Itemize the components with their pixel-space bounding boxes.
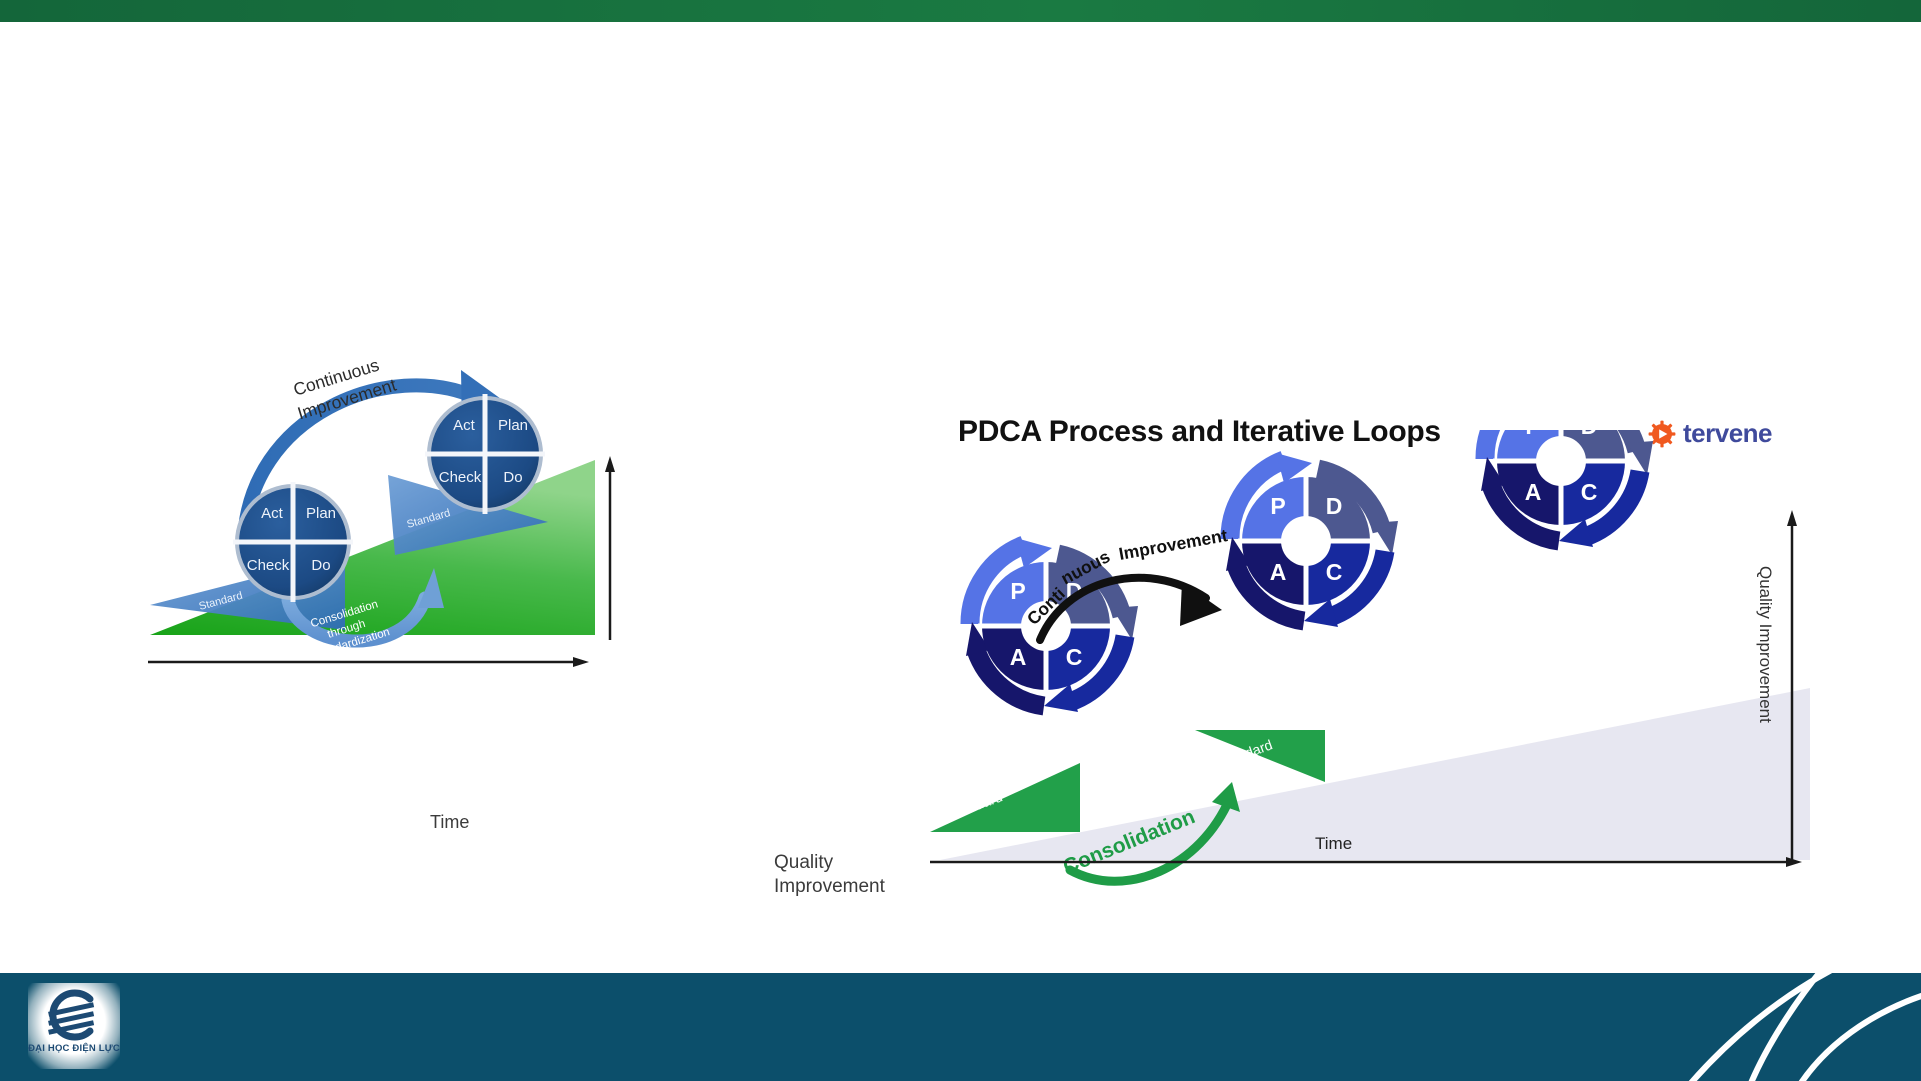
wheel3-label-a: A — [1525, 479, 1542, 505]
wheel-label-plan: Plan — [306, 505, 336, 522]
y-axis-left — [605, 456, 615, 640]
slide-footer: ĐẠI HỌC ĐIỆN LỰC — [0, 973, 1921, 1081]
wheel-label-act: Act — [261, 505, 284, 522]
right-x-axis-label: Time — [1315, 834, 1352, 854]
left-y-axis-label-line2: Improvement — [774, 875, 914, 899]
wheel3-label-p: P — [1525, 430, 1540, 439]
continuous-improvement-label-left: Continuous Improvement — [288, 352, 399, 424]
left-x-axis-label: Time — [430, 812, 469, 833]
left-y-axis-label: Quality Improvement — [774, 851, 914, 899]
svg-text:Improvement: Improvement — [1117, 525, 1229, 564]
continuous-improvement-arrow-head-right — [1180, 582, 1222, 626]
slide-canvas: Standard Standard Consolidation through … — [0, 0, 1921, 1081]
university-logo: ĐẠI HỌC ĐIỆN LỰC — [28, 983, 120, 1069]
wheel2-label-p: P — [1270, 493, 1285, 519]
left-diagram-svg: Standard Standard Consolidation through … — [140, 330, 790, 710]
wheel-label-do: Do — [311, 557, 330, 574]
right-diagram-svg: P D A C P — [930, 430, 1830, 910]
wheel-label-check: Check — [247, 557, 290, 574]
left-pdca-diagram: Standard Standard Consolidation through … — [140, 330, 780, 700]
university-logo-glyph — [28, 983, 120, 1047]
wheel2-label-do: Do — [503, 469, 522, 486]
wheel2-label-plan: Plan — [498, 417, 528, 434]
left-y-axis-label-line1: Quality — [774, 851, 914, 875]
pdca-wheel-right-3: P D A C — [1481, 430, 1653, 547]
wheel2-label-d: D — [1326, 493, 1343, 519]
university-logo-label: ĐẠI HỌC ĐIỆN LỰC — [28, 1043, 120, 1054]
x-axis-left — [148, 657, 589, 667]
wheel2-label-check: Check — [439, 469, 482, 486]
wheel3-label-c: C — [1581, 479, 1598, 505]
wheel1-label-c: C — [1066, 644, 1083, 670]
top-accent-bar — [0, 0, 1921, 22]
wheel2-label-c: C — [1326, 559, 1343, 585]
wheel1-label-a: A — [1010, 644, 1027, 670]
wheel1-label-p: P — [1010, 578, 1025, 604]
wheel3-label-d: D — [1581, 430, 1598, 439]
top-accent-bar-gradient — [0, 0, 1921, 22]
footer-decorative-curves — [1501, 973, 1921, 1081]
right-y-axis-label: Quality Improvement — [1755, 566, 1775, 723]
wheel2-label-act: Act — [453, 417, 476, 434]
pdca-wheel-right-2: P D A C — [1226, 453, 1398, 627]
wheel2-label-a: A — [1270, 559, 1287, 585]
